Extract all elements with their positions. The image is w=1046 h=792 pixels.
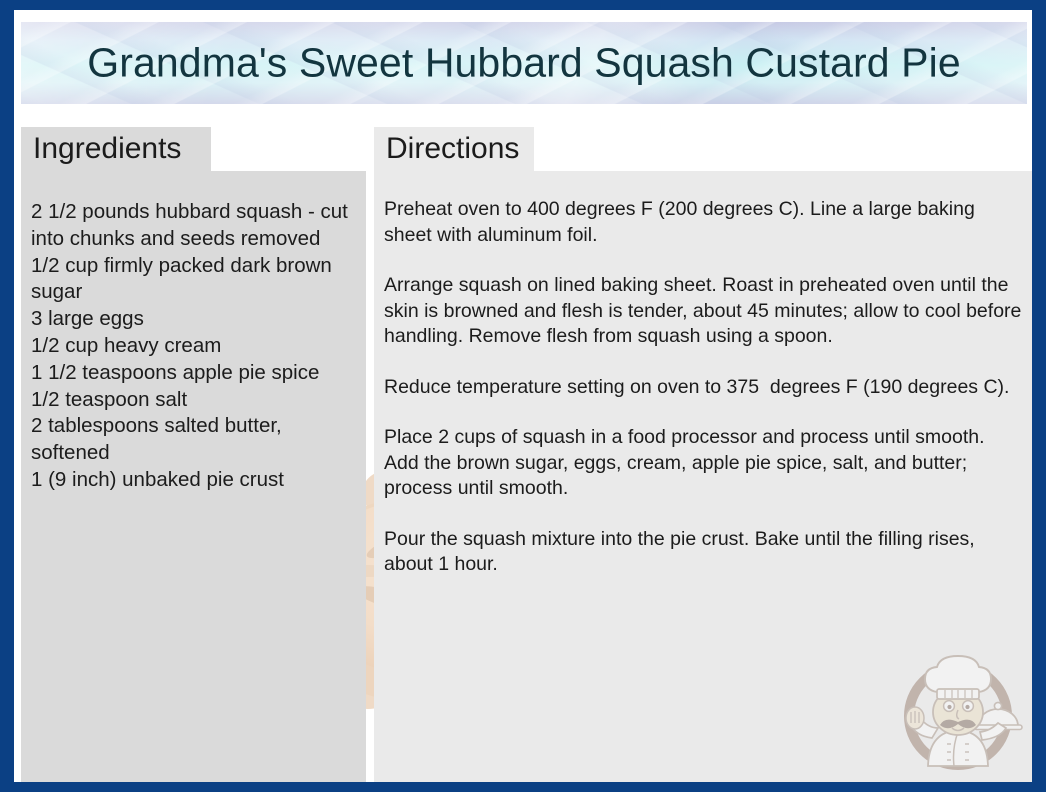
list-item: 3 large eggs [31,306,354,333]
list-item: Pour the squash mixture into the pie cru… [384,527,1022,578]
list-item: Arrange squash on lined baking sheet. Ro… [384,273,1022,350]
directions-list: Preheat oven to 400 degrees F (200 degre… [384,197,1022,578]
ingredients-tab[interactable]: Ingredients [21,127,211,171]
directions-panel: Preheat oven to 400 degrees F (200 degre… [374,171,1032,782]
list-item: 1/2 cup heavy cream [31,333,354,360]
recipe-card-inner: Grandma's Sweet Hubbard Squash Custard P… [14,10,1032,782]
ingredients-panel: 2 1/2 pounds hubbard squash - cut into c… [21,171,366,782]
list-item: 1/2 cup firmly packed dark brown sugar [31,253,354,307]
list-item: 1 1/2 teaspoons apple pie spice [31,360,354,387]
directions-heading: Directions [386,134,519,164]
directions-section: Directions Preheat oven to 400 degrees F… [374,127,1032,782]
ingredients-heading: Ingredients [33,134,181,164]
list-item: 1/2 teaspoon salt [31,387,354,414]
page-title: Grandma's Sweet Hubbard Squash Custard P… [21,40,1027,85]
list-item: 1 (9 inch) unbaked pie crust [31,467,354,494]
list-item: Place 2 cups of squash in a food process… [384,425,1022,502]
list-item: Reduce temperature setting on oven to 37… [384,375,1022,401]
ingredients-section: Ingredients 2 1/2 pounds hubbard squash … [21,127,366,782]
list-item: 2 1/2 pounds hubbard squash - cut into c… [31,199,354,253]
directions-tab[interactable]: Directions [374,127,534,171]
list-item: Preheat oven to 400 degrees F (200 degre… [384,197,1022,248]
title-banner: Grandma's Sweet Hubbard Squash Custard P… [21,22,1027,104]
ingredients-list: 2 1/2 pounds hubbard squash - cut into c… [31,199,354,494]
list-item: 2 tablespoons salted butter, softened [31,413,354,467]
recipe-card: Grandma's Sweet Hubbard Squash Custard P… [0,0,1046,792]
